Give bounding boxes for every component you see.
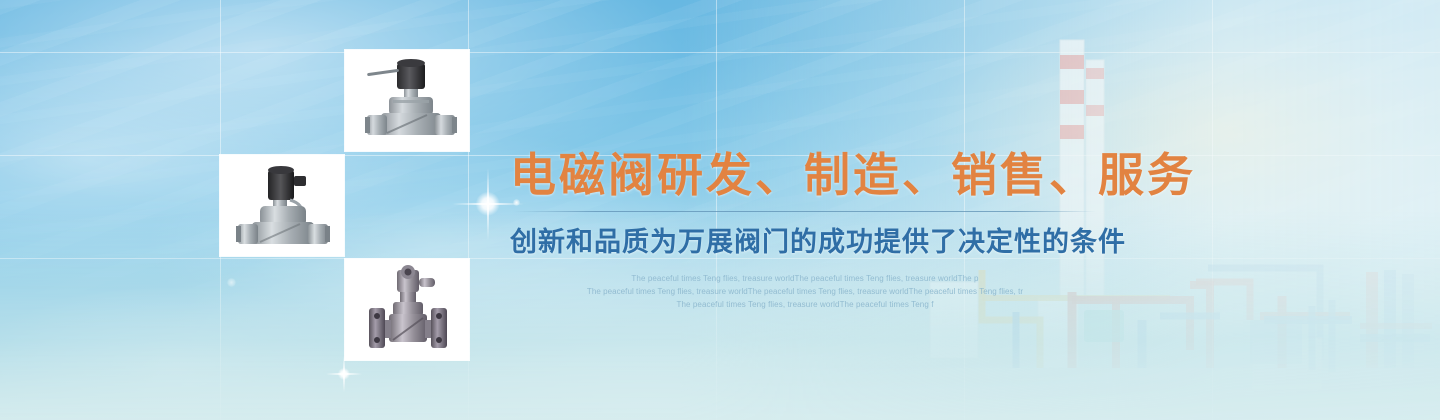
product-tile-solenoid-valve-threaded-lever[interactable] [345,50,469,151]
headline-divider [514,211,1096,212]
blurb-line-2: The peaceful times Teng flies, treasure … [510,286,1100,297]
solenoid-valve-threaded-lever-icon [351,55,463,147]
hero-headline: 电磁阀研发、制造、销售、服务 [510,150,1100,202]
hero-banner: 电磁阀研发、制造、销售、服务 创新和品质为万展阀门的成功提供了决定性的条件 Th… [0,0,1440,420]
blurb-line-1: The peaceful times Teng flies, treasure … [510,273,1100,284]
sparkle-dot-small [227,278,236,287]
product-tile-solenoid-valve-flanged[interactable] [345,259,469,360]
hero-copy: 电磁阀研发、制造、销售、服务 创新和品质为万展阀门的成功提供了决定性的条件 Th… [510,150,1100,312]
hero-subheadline: 创新和品质为万展阀门的成功提供了决定性的条件 [510,220,1100,259]
solenoid-valve-flanged-icon [351,264,463,356]
hero-blurb: The peaceful times Teng flies, treasure … [510,273,1100,310]
solenoid-valve-threaded-coil-icon [226,160,338,252]
product-tile-solenoid-valve-threaded-coil[interactable] [220,155,344,256]
blurb-line-3: The peaceful times Teng flies, treasure … [510,299,1100,310]
